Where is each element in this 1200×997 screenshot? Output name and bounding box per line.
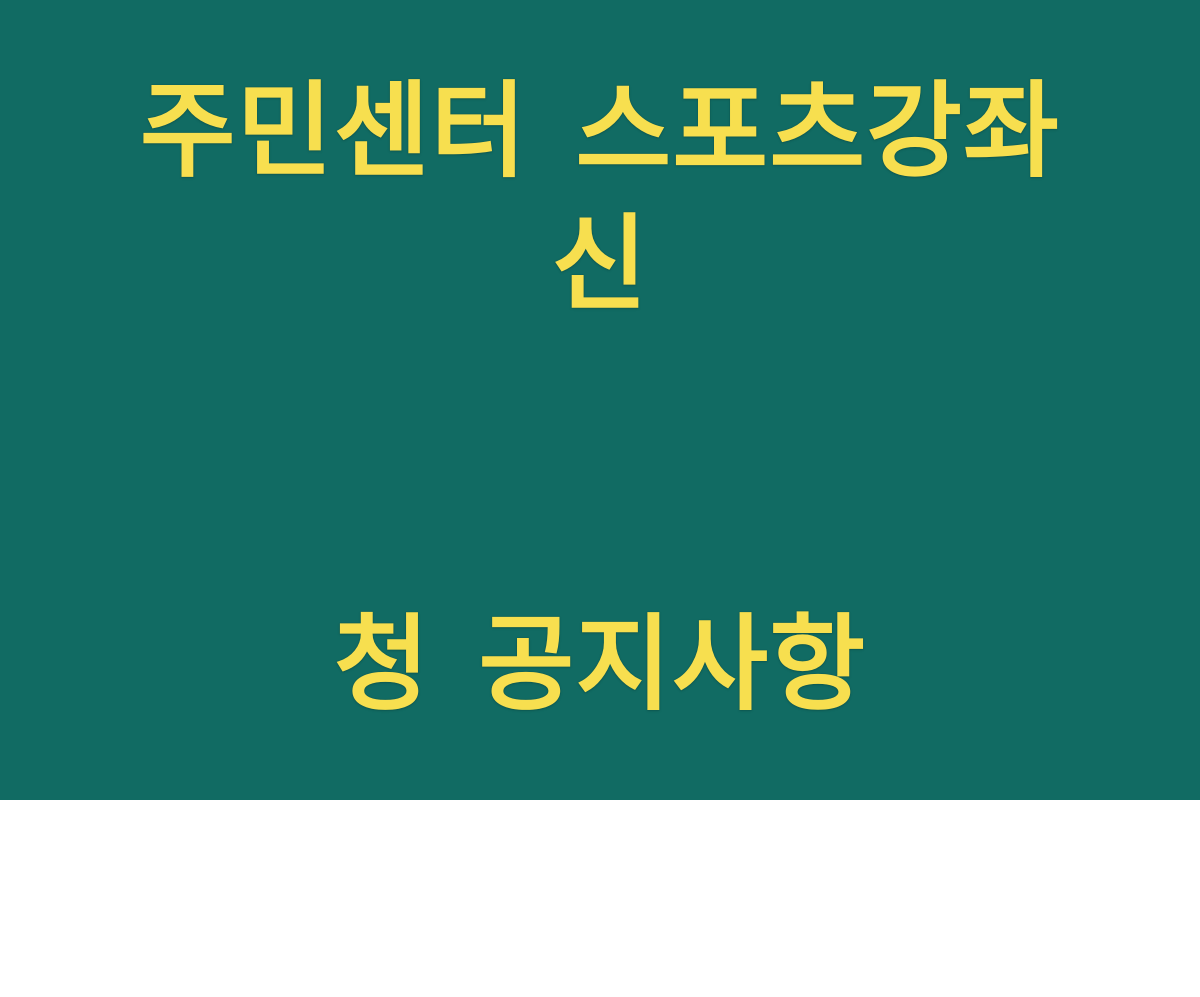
headline-block: 주민센터 스포츠강좌 신 청 공지사항 bbox=[80, 0, 1120, 997]
page-title: 주민센터 스포츠강좌 신 청 공지사항 bbox=[80, 0, 1120, 997]
page-title-line-2: 청 공지사항 bbox=[80, 598, 1120, 731]
page-title-line-1: 주민센터 스포츠강좌 신 bbox=[80, 65, 1120, 331]
banner-canvas: 주민센터 스포츠강좌 신 청 공지사항 bbox=[0, 0, 1200, 800]
